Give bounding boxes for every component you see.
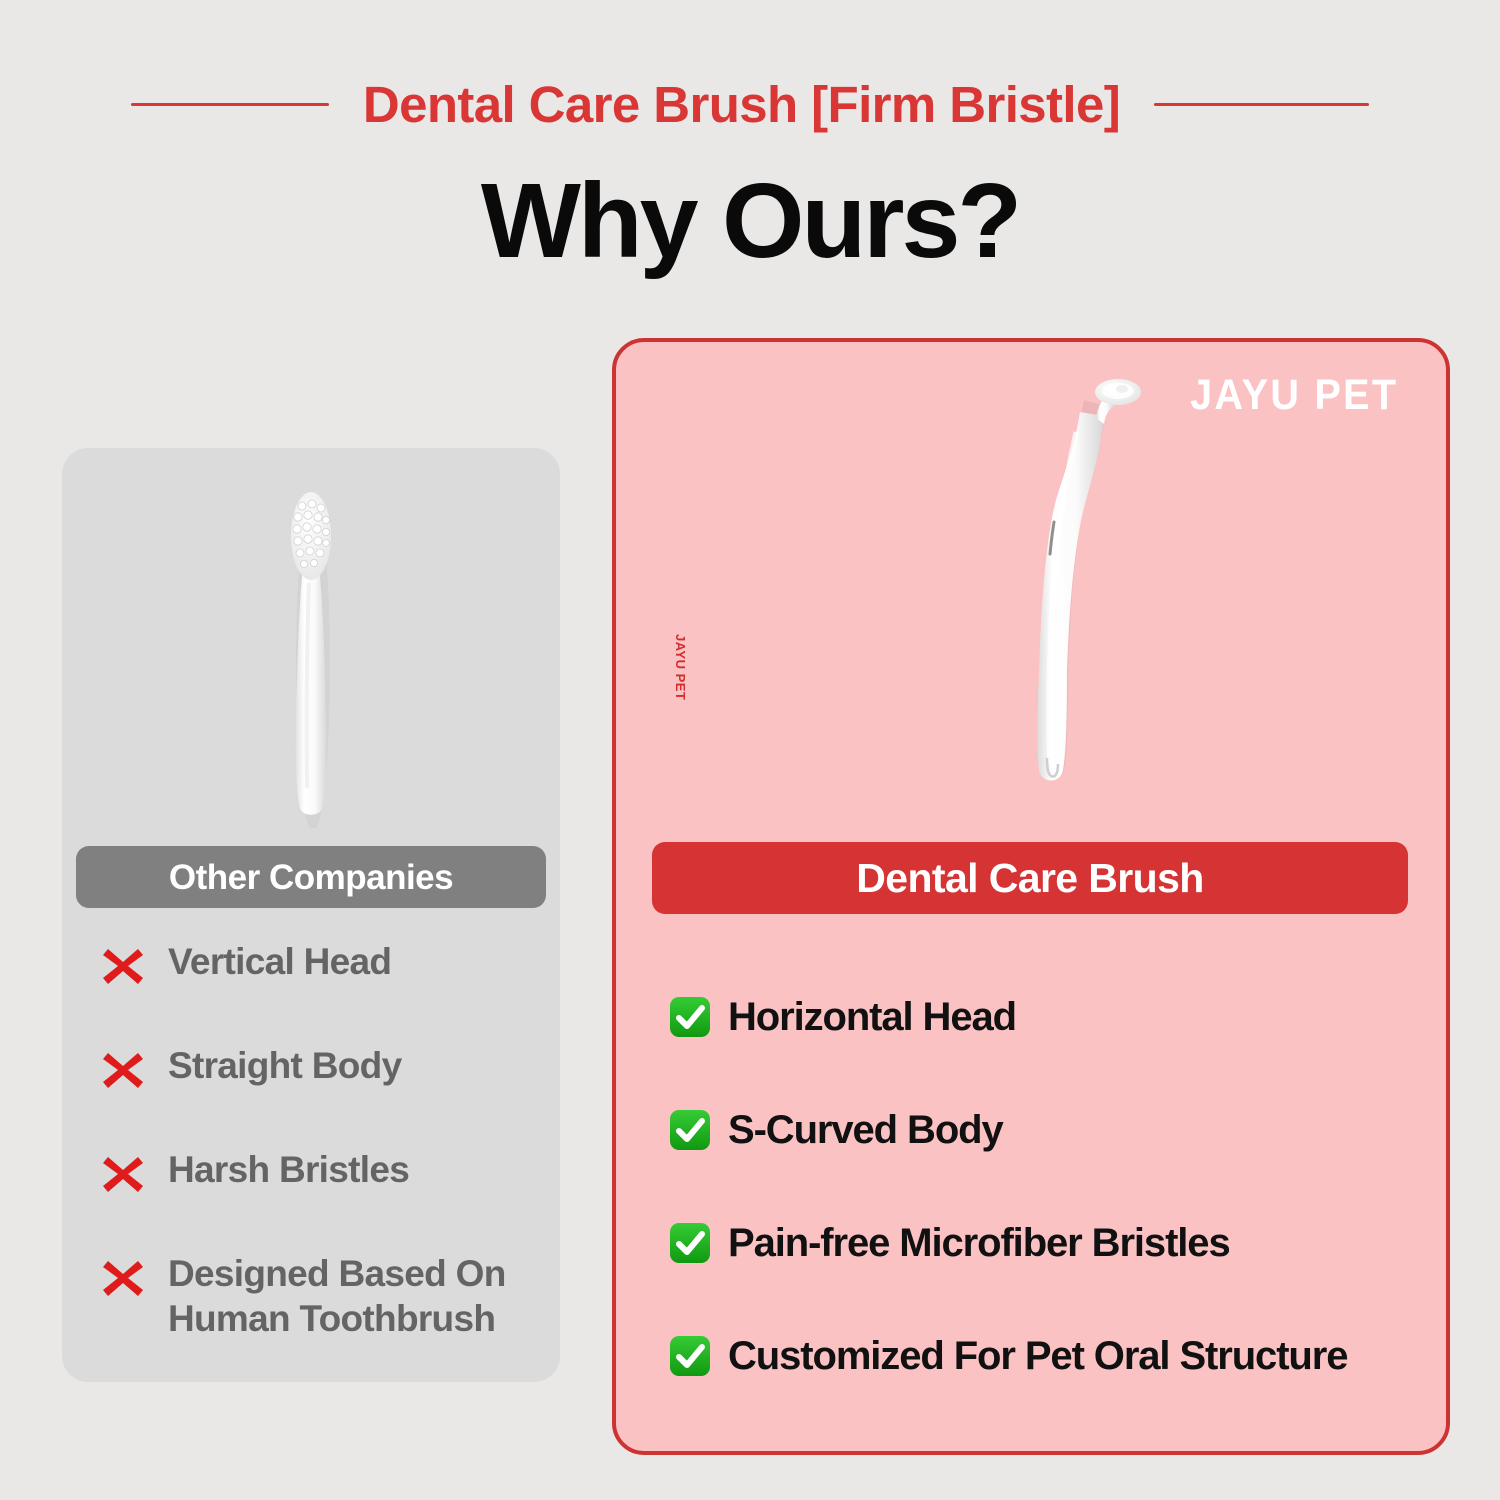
red-cross-icon — [100, 1150, 146, 1196]
list-item: S-Curved Body — [668, 1073, 1428, 1186]
list-item: Vertical Head — [100, 938, 540, 1042]
green-check-icon — [668, 1221, 712, 1265]
other-companies-panel: Other Companies Vertical Head Straight B… — [62, 448, 560, 1382]
list-item: Designed Based On Human Toothbrush — [100, 1250, 540, 1354]
brush-handle-brand-label: JAYU PET — [673, 634, 688, 700]
list-item-label: Designed Based On Human Toothbrush — [168, 1250, 506, 1341]
decorative-rule-right-icon — [1154, 103, 1369, 106]
jayu-pet-feature-list: Horizontal Head S-Curved Body Pain-free … — [668, 960, 1428, 1412]
red-cross-icon — [100, 1254, 146, 1300]
header-banner: Dental Care Brush [Firm Bristle] — [0, 66, 1500, 142]
list-item-label: Harsh Bristles — [168, 1146, 409, 1192]
other-companies-feature-list: Vertical Head Straight Body Harsh Bristl… — [100, 938, 540, 1354]
green-check-icon — [668, 995, 712, 1039]
red-cross-icon — [100, 1046, 146, 1092]
list-item: Horizontal Head — [668, 960, 1428, 1073]
list-item: Pain-free Microfiber Bristles — [668, 1186, 1428, 1299]
list-item-label: Customized For Pet Oral Structure — [728, 1334, 1347, 1378]
list-item: Customized For Pet Oral Structure — [668, 1299, 1428, 1412]
green-check-icon — [668, 1108, 712, 1152]
list-item: Straight Body — [100, 1042, 540, 1146]
list-item-label: Vertical Head — [168, 938, 391, 984]
jayu-pet-s-curved-toothbrush-image — [1006, 372, 1156, 812]
other-companies-heading: Other Companies — [76, 846, 546, 908]
list-item-label: Pain-free Microfiber Bristles — [728, 1221, 1230, 1265]
standard-vertical-toothbrush-image — [251, 488, 371, 828]
decorative-rule-left-icon — [131, 103, 329, 106]
list-item-label: Horizontal Head — [728, 995, 1016, 1039]
eyebrow-title: Dental Care Brush [Firm Bristle] — [363, 79, 1120, 130]
dental-care-brush-heading: Dental Care Brush — [652, 842, 1408, 914]
green-check-icon — [668, 1334, 712, 1378]
page-title: Why Ours? — [0, 163, 1500, 280]
jayu-pet-panel: JAYU PET — [612, 338, 1450, 1455]
list-item-label: S-Curved Body — [728, 1108, 1003, 1152]
brand-logo: JAYU PET — [1190, 374, 1398, 417]
red-cross-icon — [100, 942, 146, 988]
list-item: Harsh Bristles — [100, 1146, 540, 1250]
list-item-label: Straight Body — [168, 1042, 401, 1088]
